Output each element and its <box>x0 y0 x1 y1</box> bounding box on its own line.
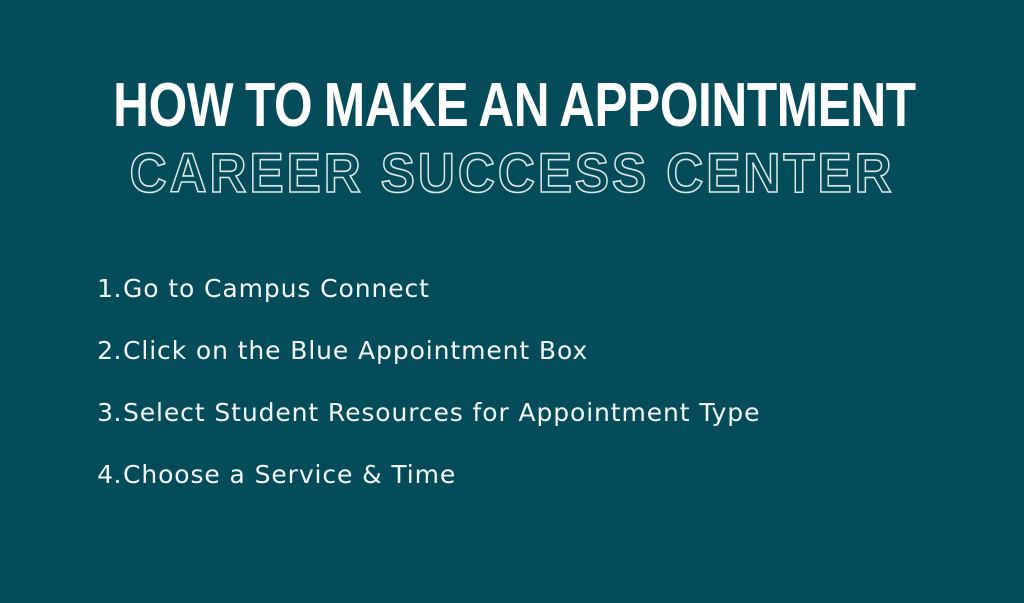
slide-canvas: HOW TO MAKE AN APPOINTMENT CAREER SUCCES… <box>0 0 1024 603</box>
step-text: Click on the Blue Appointment Box <box>122 334 588 368</box>
step-text: Go to Campus Connect <box>122 272 430 306</box>
steps-list: 1. Go to Campus Connect 2. Click on the … <box>92 272 952 520</box>
step-number: 1. <box>92 272 122 306</box>
list-item: 1. Go to Campus Connect <box>92 272 952 334</box>
step-number: 4. <box>92 458 122 492</box>
step-number: 2. <box>92 334 122 368</box>
list-item: 4. Choose a Service & Time <box>92 458 952 520</box>
list-item: 3. Select Student Resources for Appointm… <box>92 396 952 458</box>
page-subtitle: CAREER SUCCESS CENTER <box>41 146 983 200</box>
page-title: HOW TO MAKE AN APPOINTMENT <box>102 76 921 136</box>
step-text: Choose a Service & Time <box>122 458 456 492</box>
heading-block: HOW TO MAKE AN APPOINTMENT CAREER SUCCES… <box>0 76 1024 200</box>
step-text: Select Student Resources for Appointment… <box>122 396 760 430</box>
step-number: 3. <box>92 396 122 430</box>
list-item: 2. Click on the Blue Appointment Box <box>92 334 952 396</box>
